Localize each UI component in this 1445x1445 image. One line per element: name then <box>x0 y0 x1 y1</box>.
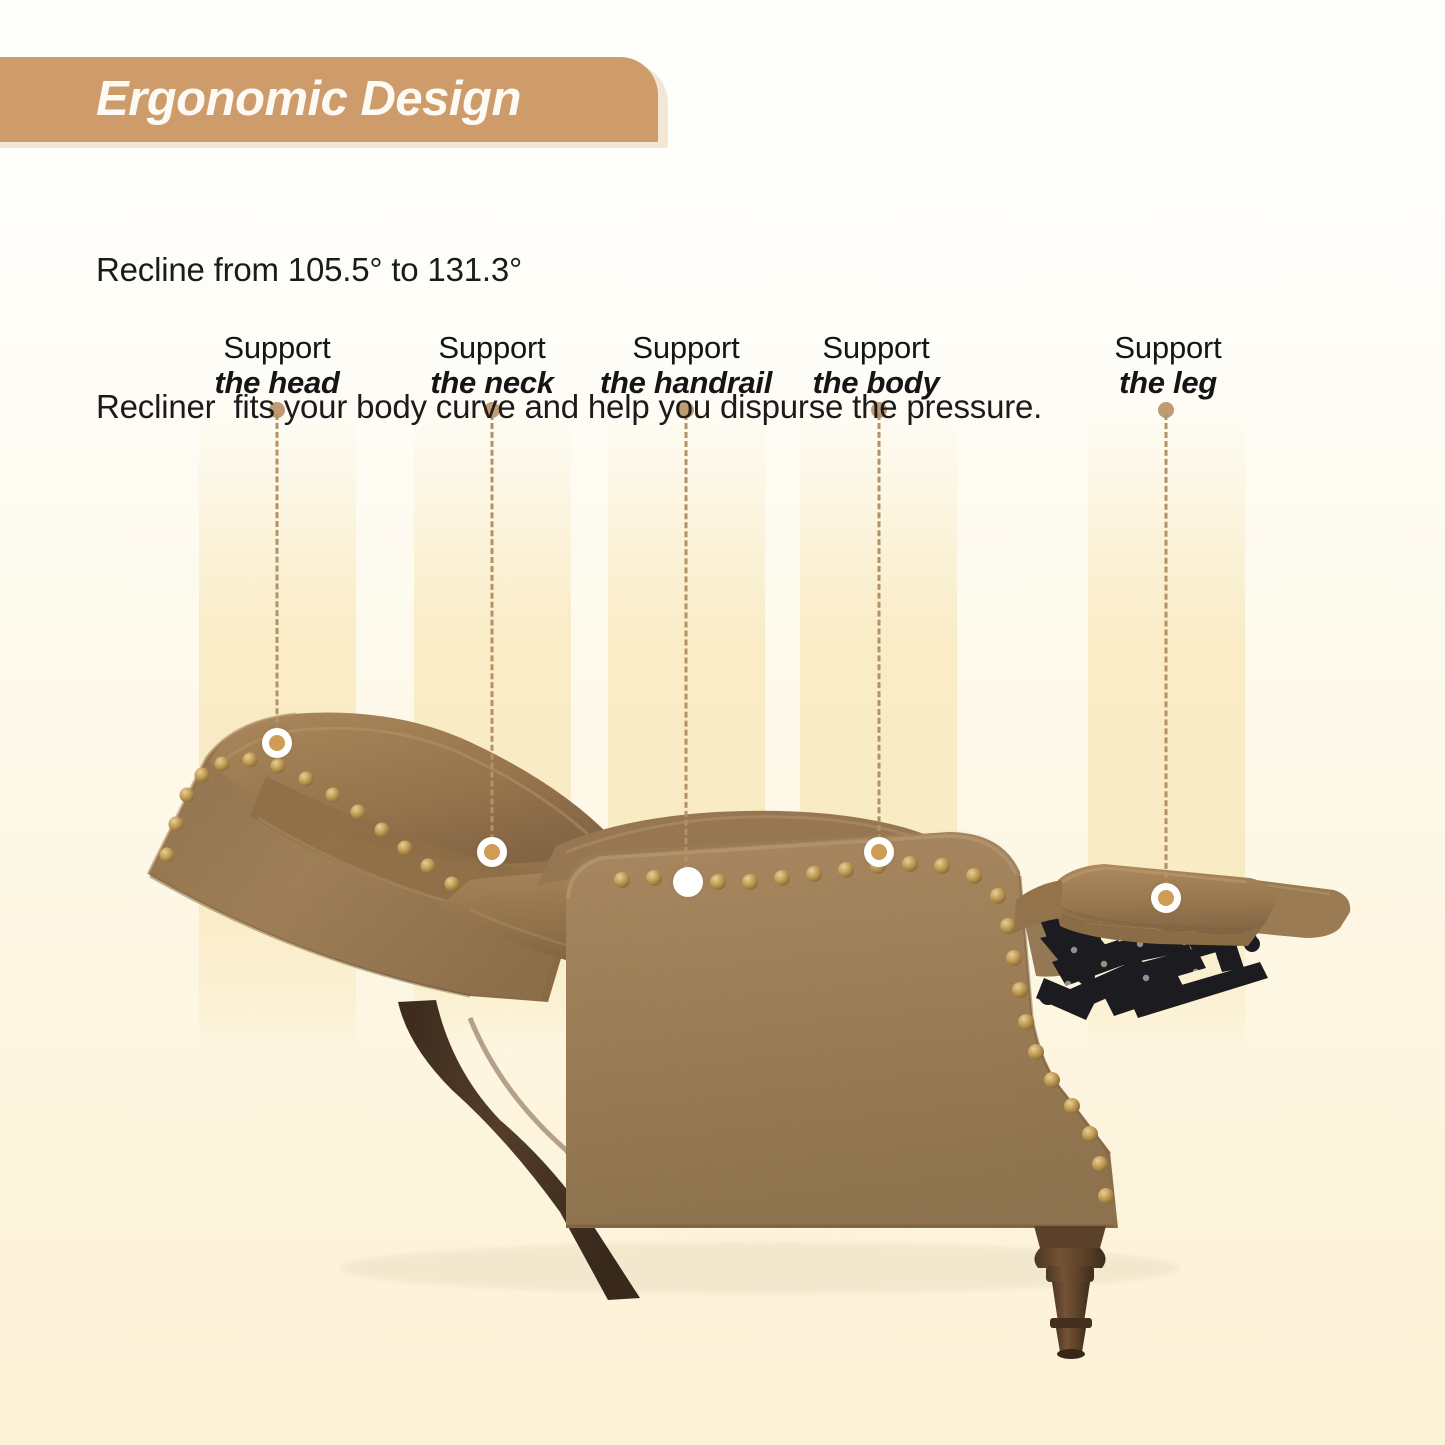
header-banner: Ergonomic Design <box>0 57 658 142</box>
subtitle-line-1: Recline from 105.5° to 131.3° <box>96 247 1276 293</box>
callout-marker-handrail <box>673 867 703 897</box>
subtitle-line-2: Recliner fits your body curve and help y… <box>96 384 1276 430</box>
page-title: Ergonomic Design <box>96 75 521 124</box>
subtitle-block: Recline from 105.5° to 131.3° Recliner f… <box>96 156 1276 520</box>
callout-marker-neck <box>477 837 507 867</box>
infographic-canvas: Supportthe headSupportthe neckSupportthe… <box>0 0 1445 1445</box>
callout-marker-head <box>262 728 292 758</box>
callout-marker-leg <box>1151 883 1181 913</box>
wooden-leg <box>1034 1226 1106 1359</box>
callout-marker-body <box>864 837 894 867</box>
